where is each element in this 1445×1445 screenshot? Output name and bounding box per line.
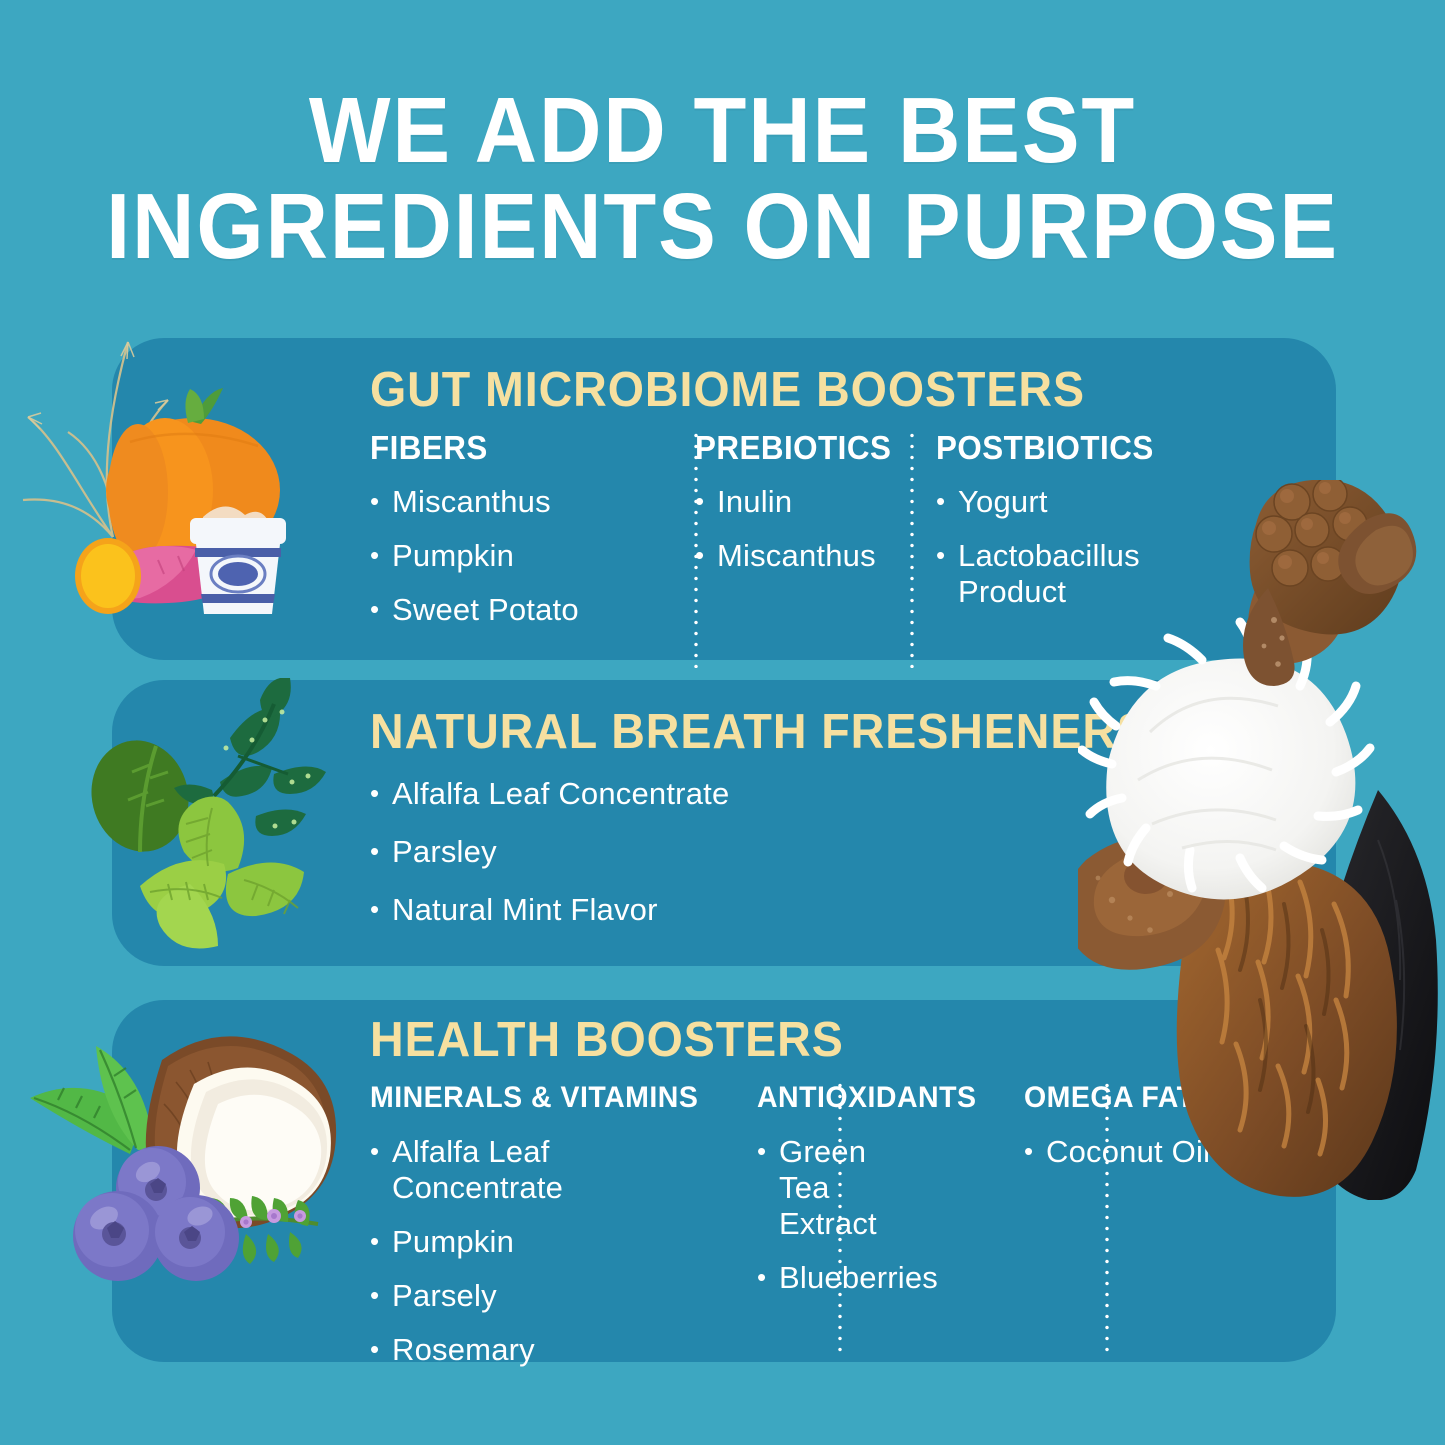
list-item: Coconut Oil [1024,1134,1354,1170]
list-item: Blueberries [757,1260,972,1296]
list-item: Miscanthus [695,538,910,574]
column-title: POSTBIOTICS [936,430,1174,466]
card-health-boosters: HEALTH BOOSTERS MINERALS & VITAMINS Alfa… [112,1000,1336,1362]
list-item: Lactobacillus Product [936,538,1148,610]
bullet-list: Inulin Miscanthus [695,484,910,574]
column-fibers: FIBERS Miscanthus Pumpkin Sweet Potato [370,430,610,646]
list-item: Rosemary [370,1332,725,1368]
card-gut-microbiome-boosters: GUT MICROBIOME BOOSTERS FIBERS Miscanthu… [112,338,1336,660]
column-title: FIBERS [370,430,598,466]
bullet-list: Green Tea Extract Blueberries [757,1134,972,1296]
bullet-list: Yogurt Lactobacillus Product [936,484,1186,610]
column-postbiotics: POSTBIOTICS Yogurt Lactobacillus Product [936,430,1186,646]
bullet-list: Alfalfa Leaf Concentrate Pumpkin Parsely… [370,1134,725,1368]
title-line-1: WE ADD THE BEST [51,82,1395,178]
infographic-canvas: WE ADD THE BEST INGREDIENTS ON PURPOSE G… [0,0,1445,1445]
column-title: ANTIOXIDANTS [757,1080,961,1116]
column-title: MINERALS & VITAMINS [370,1080,707,1116]
column-divider [910,430,914,668]
card-columns: Alfalfa Leaf Concentrate Parsley Natural… [370,776,729,950]
list-item: Green Tea Extract [757,1134,909,1242]
list-item: Parsely [370,1278,725,1314]
list-item: Yogurt [936,484,1186,520]
card-columns: MINERALS & VITAMINS Alfalfa Leaf Concent… [370,1080,1354,1386]
list-item: Pumpkin [370,538,610,574]
list-item: Pumpkin [370,1224,725,1260]
bullet-list: Miscanthus Pumpkin Sweet Potato [370,484,610,628]
bullet-list: Alfalfa Leaf Concentrate Parsley Natural… [370,776,729,928]
card-heading: GUT MICROBIOME BOOSTERS [370,362,1085,418]
list-item: Inulin [695,484,910,520]
card-natural-breath-fresheners: NATURAL BREATH FRESHENERS Alfalfa Leaf C… [112,680,1336,966]
column-omega-fatty-acids: OMEGA FATTY ACIDS Coconut Oil [1024,1080,1354,1386]
column-prebiotics: PREBIOTICS Inulin Miscanthus [695,430,910,646]
page-title: WE ADD THE BEST INGREDIENTS ON PURPOSE [0,82,1445,274]
list-item: Alfalfa Leaf Concentrate [370,776,729,812]
list-item: Miscanthus [370,484,610,520]
column-minerals-vitamins: MINERALS & VITAMINS Alfalfa Leaf Concent… [370,1080,725,1386]
list-item: Natural Mint Flavor [370,892,729,928]
card-heading: NATURAL BREATH FRESHENERS [370,704,1149,760]
column-title: PREBIOTICS [695,430,899,466]
column-title: OMEGA FATTY ACIDS [1024,1080,1338,1116]
title-line-2: INGREDIENTS ON PURPOSE [51,178,1395,274]
card-columns: FIBERS Miscanthus Pumpkin Sweet Potato P… [370,430,1186,646]
list-item: Parsley [370,834,729,870]
list-item: Alfalfa Leaf Concentrate [370,1134,725,1206]
column-antioxidants: ANTIOXIDANTS Green Tea Extract Blueberri… [757,1080,972,1386]
card-heading: HEALTH BOOSTERS [370,1012,844,1068]
list-item: Sweet Potato [370,592,610,628]
bullet-list: Coconut Oil [1024,1134,1354,1170]
